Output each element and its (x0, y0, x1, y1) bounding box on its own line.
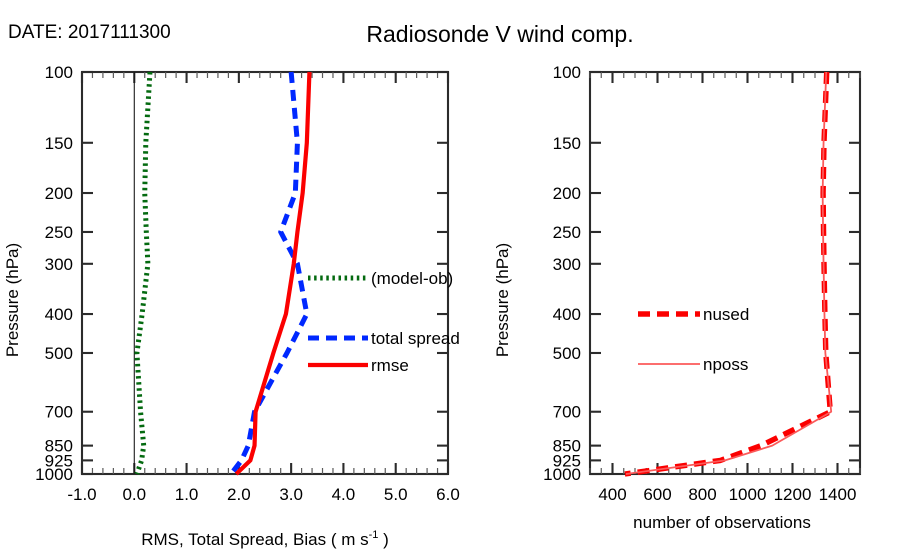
y-tick-label: 150 (553, 134, 581, 153)
x-tick-label: 400 (598, 485, 626, 504)
x-tick-label: 800 (688, 485, 716, 504)
y-tick-label: 1000 (35, 465, 73, 484)
x-tick-label: 4.0 (332, 485, 356, 504)
x-tick-label: 600 (643, 485, 671, 504)
y-tick-label: 700 (45, 403, 73, 422)
x-tick-label: 3.0 (279, 485, 303, 504)
y-tick-label: 300 (553, 255, 581, 274)
y-tick-label: 1000 (543, 465, 581, 484)
y-tick-label: 500 (553, 344, 581, 363)
x-tick-label: -1.0 (67, 485, 96, 504)
legend-label: nposs (703, 355, 748, 374)
y-tick-label: 250 (553, 223, 581, 242)
left-x-axis-label: RMS, Total Spread, Bias ( m s-1 ) (141, 529, 389, 549)
y-tick-label: 250 (45, 223, 73, 242)
right-x-axis-label: number of observations (633, 513, 811, 532)
radiosonde-figure: DATE: 2017111300 Radiosonde V wind comp.… (0, 0, 900, 560)
y-tick-label: 200 (45, 184, 73, 203)
right-y-axis-label: Pressure (hPa) (493, 243, 512, 357)
y-tick-label: 200 (553, 184, 581, 203)
legend-label: total spread (371, 329, 460, 348)
x-tick-label: 1200 (774, 485, 812, 504)
y-tick-label: 150 (45, 134, 73, 153)
legend-label: (model-ob) (371, 269, 453, 288)
y-tick-label: 400 (553, 305, 581, 324)
x-tick-label: 2.0 (227, 485, 251, 504)
x-tick-label: 5.0 (384, 485, 408, 504)
y-tick-label: 100 (553, 63, 581, 82)
series-nposs (626, 72, 831, 474)
y-tick-label: 700 (553, 403, 581, 422)
x-tick-label: 6.0 (436, 485, 460, 504)
right-legend: nusednposs (638, 305, 749, 374)
y-tick-label: 400 (45, 305, 73, 324)
legend-label: nused (703, 305, 749, 324)
date-label: DATE: 2017111300 (8, 22, 171, 43)
legend-label: rmse (371, 356, 409, 375)
x-tick-label: 0.0 (122, 485, 146, 504)
left-y-axis-label: Pressure (hPa) (3, 243, 22, 357)
series--model-ob- (137, 72, 150, 474)
right-panel: 4006008001000120014001001502002503004005… (543, 63, 860, 504)
page-title: Radiosonde V wind comp. (366, 21, 633, 47)
series-nused (625, 72, 830, 474)
y-tick-label: 500 (45, 344, 73, 363)
x-tick-label: 1.0 (175, 485, 199, 504)
series-total-spread (231, 72, 307, 474)
y-tick-label: 100 (45, 63, 73, 82)
y-tick-label: 300 (45, 255, 73, 274)
x-tick-label: 1400 (819, 485, 857, 504)
left-legend: (model-ob)total spreadrmse (308, 269, 460, 375)
x-tick-label: 1000 (729, 485, 767, 504)
